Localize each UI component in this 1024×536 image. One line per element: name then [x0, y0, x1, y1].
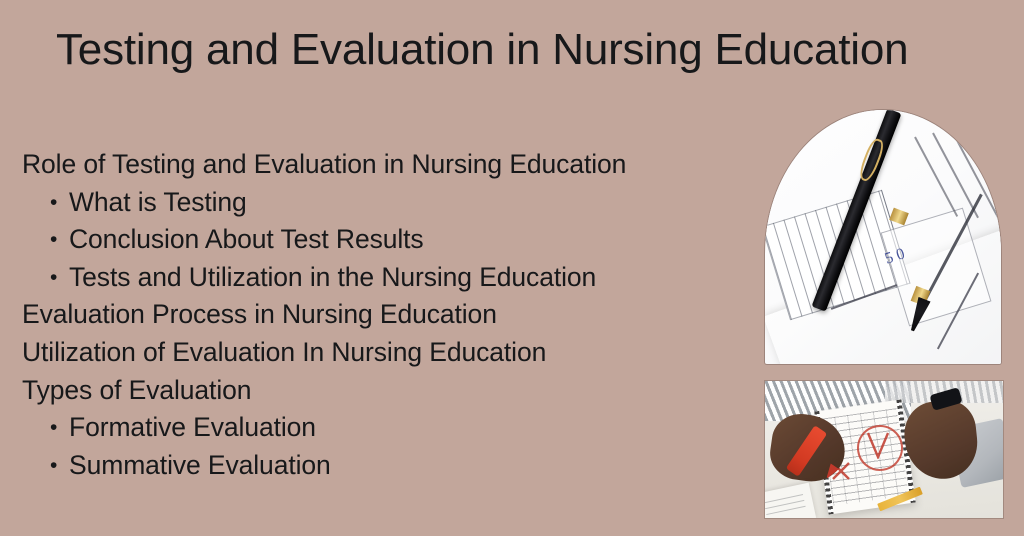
bullet-icon: •	[50, 447, 69, 485]
outline-item-label: Formative Evaluation	[69, 409, 316, 447]
bullet-icon: •	[50, 184, 69, 222]
bullet-icon: •	[50, 409, 69, 447]
outline-item-label: Tests and Utilization in the Nursing Edu…	[69, 259, 596, 297]
arch-photo-pen-on-test-form: 5 0	[765, 110, 1001, 364]
photo-scene: 5 0	[765, 110, 1001, 364]
outline-item-label: Types of Evaluation	[22, 375, 251, 405]
outline-item-label: Summative Evaluation	[69, 447, 331, 485]
outline-item-2: •Conclusion About Test Results	[22, 221, 722, 259]
loose-paper	[765, 483, 816, 518]
bullet-icon: •	[50, 221, 69, 259]
rectangle-photo-grading-exam	[765, 381, 1003, 518]
outline-list: Role of Testing and Evaluation in Nursin…	[22, 146, 722, 484]
page-title: Testing and Evaluation in Nursing Educat…	[56, 24, 976, 76]
outline-item-3: •Tests and Utilization in the Nursing Ed…	[22, 259, 722, 297]
outline-item-6: Types of Evaluation	[22, 372, 722, 410]
outline-item-0: Role of Testing and Evaluation in Nursin…	[22, 146, 722, 184]
outline-item-8: •Summative Evaluation	[22, 447, 722, 485]
outline-item-7: •Formative Evaluation	[22, 409, 722, 447]
slide-canvas: Testing and Evaluation in Nursing Educat…	[0, 0, 1024, 536]
outline-item-5: Utilization of Evaluation In Nursing Edu…	[22, 334, 722, 372]
bullet-icon: •	[50, 259, 69, 297]
outline-item-1: •What is Testing	[22, 184, 722, 222]
outline-item-label: Role of Testing and Evaluation in Nursin…	[22, 149, 626, 179]
outline-item-4: Evaluation Process in Nursing Education	[22, 296, 722, 334]
outline-item-label: Utilization of Evaluation In Nursing Edu…	[22, 337, 546, 367]
outline-item-label: Evaluation Process in Nursing Education	[22, 299, 497, 329]
outline-item-label: Conclusion About Test Results	[69, 221, 424, 259]
photo-scene	[765, 381, 1003, 518]
red-check-mark-icon	[866, 431, 890, 459]
outline-item-label: What is Testing	[69, 184, 247, 222]
